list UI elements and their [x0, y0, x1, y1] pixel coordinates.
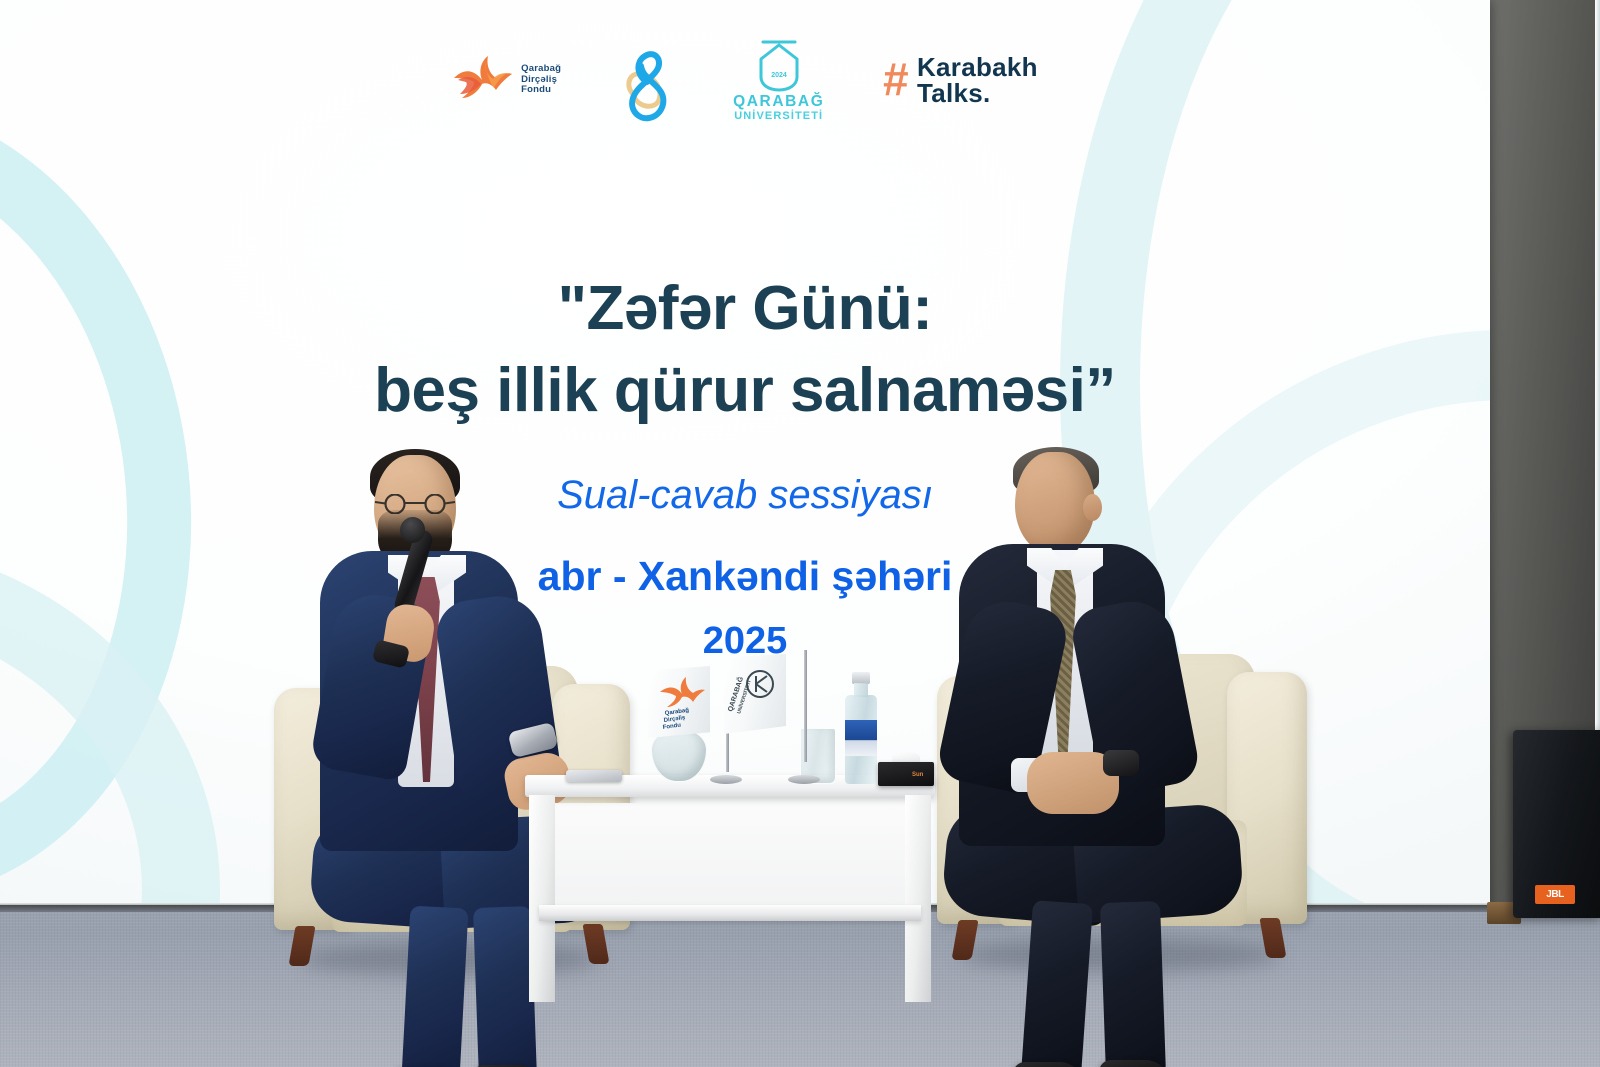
water-bottle-label [845, 720, 877, 756]
university-name: QARABAĞ [733, 94, 824, 110]
fund-logo-text: Qarabağ Dirçəliş Fondu [521, 64, 561, 96]
slide-title-line1: "Zəfər Günü: [0, 268, 1490, 350]
smartphone [566, 770, 622, 782]
svg-text:2024: 2024 [771, 72, 787, 79]
armchair-right-foot-2 [1259, 918, 1286, 958]
university-subname: UNİVERSİTETİ [734, 110, 823, 123]
screenshot-stage: Qarabağ Dirçəliş Fondu 2024 QARABAĞ [0, 0, 1600, 1067]
person-right-guest [975, 452, 1255, 1067]
fund-logo-line3: Fondu [521, 85, 561, 96]
tissue-box-body [878, 762, 934, 786]
infinity-eight-icon [619, 36, 675, 124]
desk-flag-university: QARABAĞ UNİVERSİTETİ [770, 650, 838, 784]
coffee-table-panel [555, 803, 905, 907]
slide-place-line: abr - Xankəndi şəhəri [0, 553, 1490, 600]
desk-flag-university-cloth: QARABAĞ UNİVERSİTETİ [724, 654, 786, 734]
hashtag-icon: # [882, 61, 908, 99]
karabakh-talks-line1: Karabakh [917, 54, 1038, 80]
coffee-table-leg-right [905, 795, 931, 1002]
right-guest-shin-left [1021, 900, 1093, 1067]
desk-flag-fund-logo-icon: Qarabağ Dirçəliş Fondu [648, 666, 710, 738]
karabakh-talks-text: Karabakh Talks. [917, 54, 1038, 106]
right-guest-ear [1083, 494, 1102, 521]
coffee-table-leg-left [529, 795, 555, 1002]
water-bottle [845, 672, 877, 784]
desk-flag-university-logo-icon: QARABAĞ UNİVERSİTETİ [724, 654, 786, 734]
fund-bird-icon [452, 54, 514, 106]
coffee-table-shelf [539, 905, 921, 921]
tissue-box-brand: Sun [912, 772, 923, 778]
infinity-eight-logo [619, 36, 675, 124]
slide-subtitle: Sual-cavab sessiyası [0, 473, 1490, 518]
karabakh-talks-line2: Talks. [917, 80, 1038, 106]
jbl-speaker: JBL [1513, 730, 1600, 918]
jbl-logo: JBL [1535, 885, 1575, 904]
smartphone-body [566, 770, 622, 782]
right-guest-shin-right [1100, 901, 1166, 1067]
tissue-box: Sun [878, 752, 934, 786]
university-shield-icon: 2024 [753, 37, 805, 93]
karabakh-talks-logo: # Karabakh Talks. [882, 54, 1038, 106]
logo-strip: Qarabağ Dirçəliş Fondu 2024 QARABAĞ [0, 36, 1490, 124]
fund-logo: Qarabağ Dirçəliş Fondu [452, 54, 561, 106]
desk-flag-university-base [788, 775, 820, 784]
slide-title: "Zəfər Günü: beş illik qürur salnaməsi” [0, 268, 1490, 432]
svg-text:Fondu: Fondu [662, 722, 681, 731]
desk-flag-university-pole [804, 650, 807, 762]
left-speaker-shin-left [402, 906, 469, 1067]
desk-flag-fund-base [710, 775, 742, 784]
right-guest-wristwatch [1103, 750, 1139, 776]
desk-flag-fund-cloth: Qarabağ Dirçəliş Fondu [648, 666, 710, 738]
white-coffee-table [525, 775, 935, 1010]
slide-title-line2: beş illik qürur salnaməsi” [0, 350, 1490, 432]
qarabag-universiteti-logo: 2024 QARABAĞ UNİVERSİTETİ [733, 37, 824, 124]
